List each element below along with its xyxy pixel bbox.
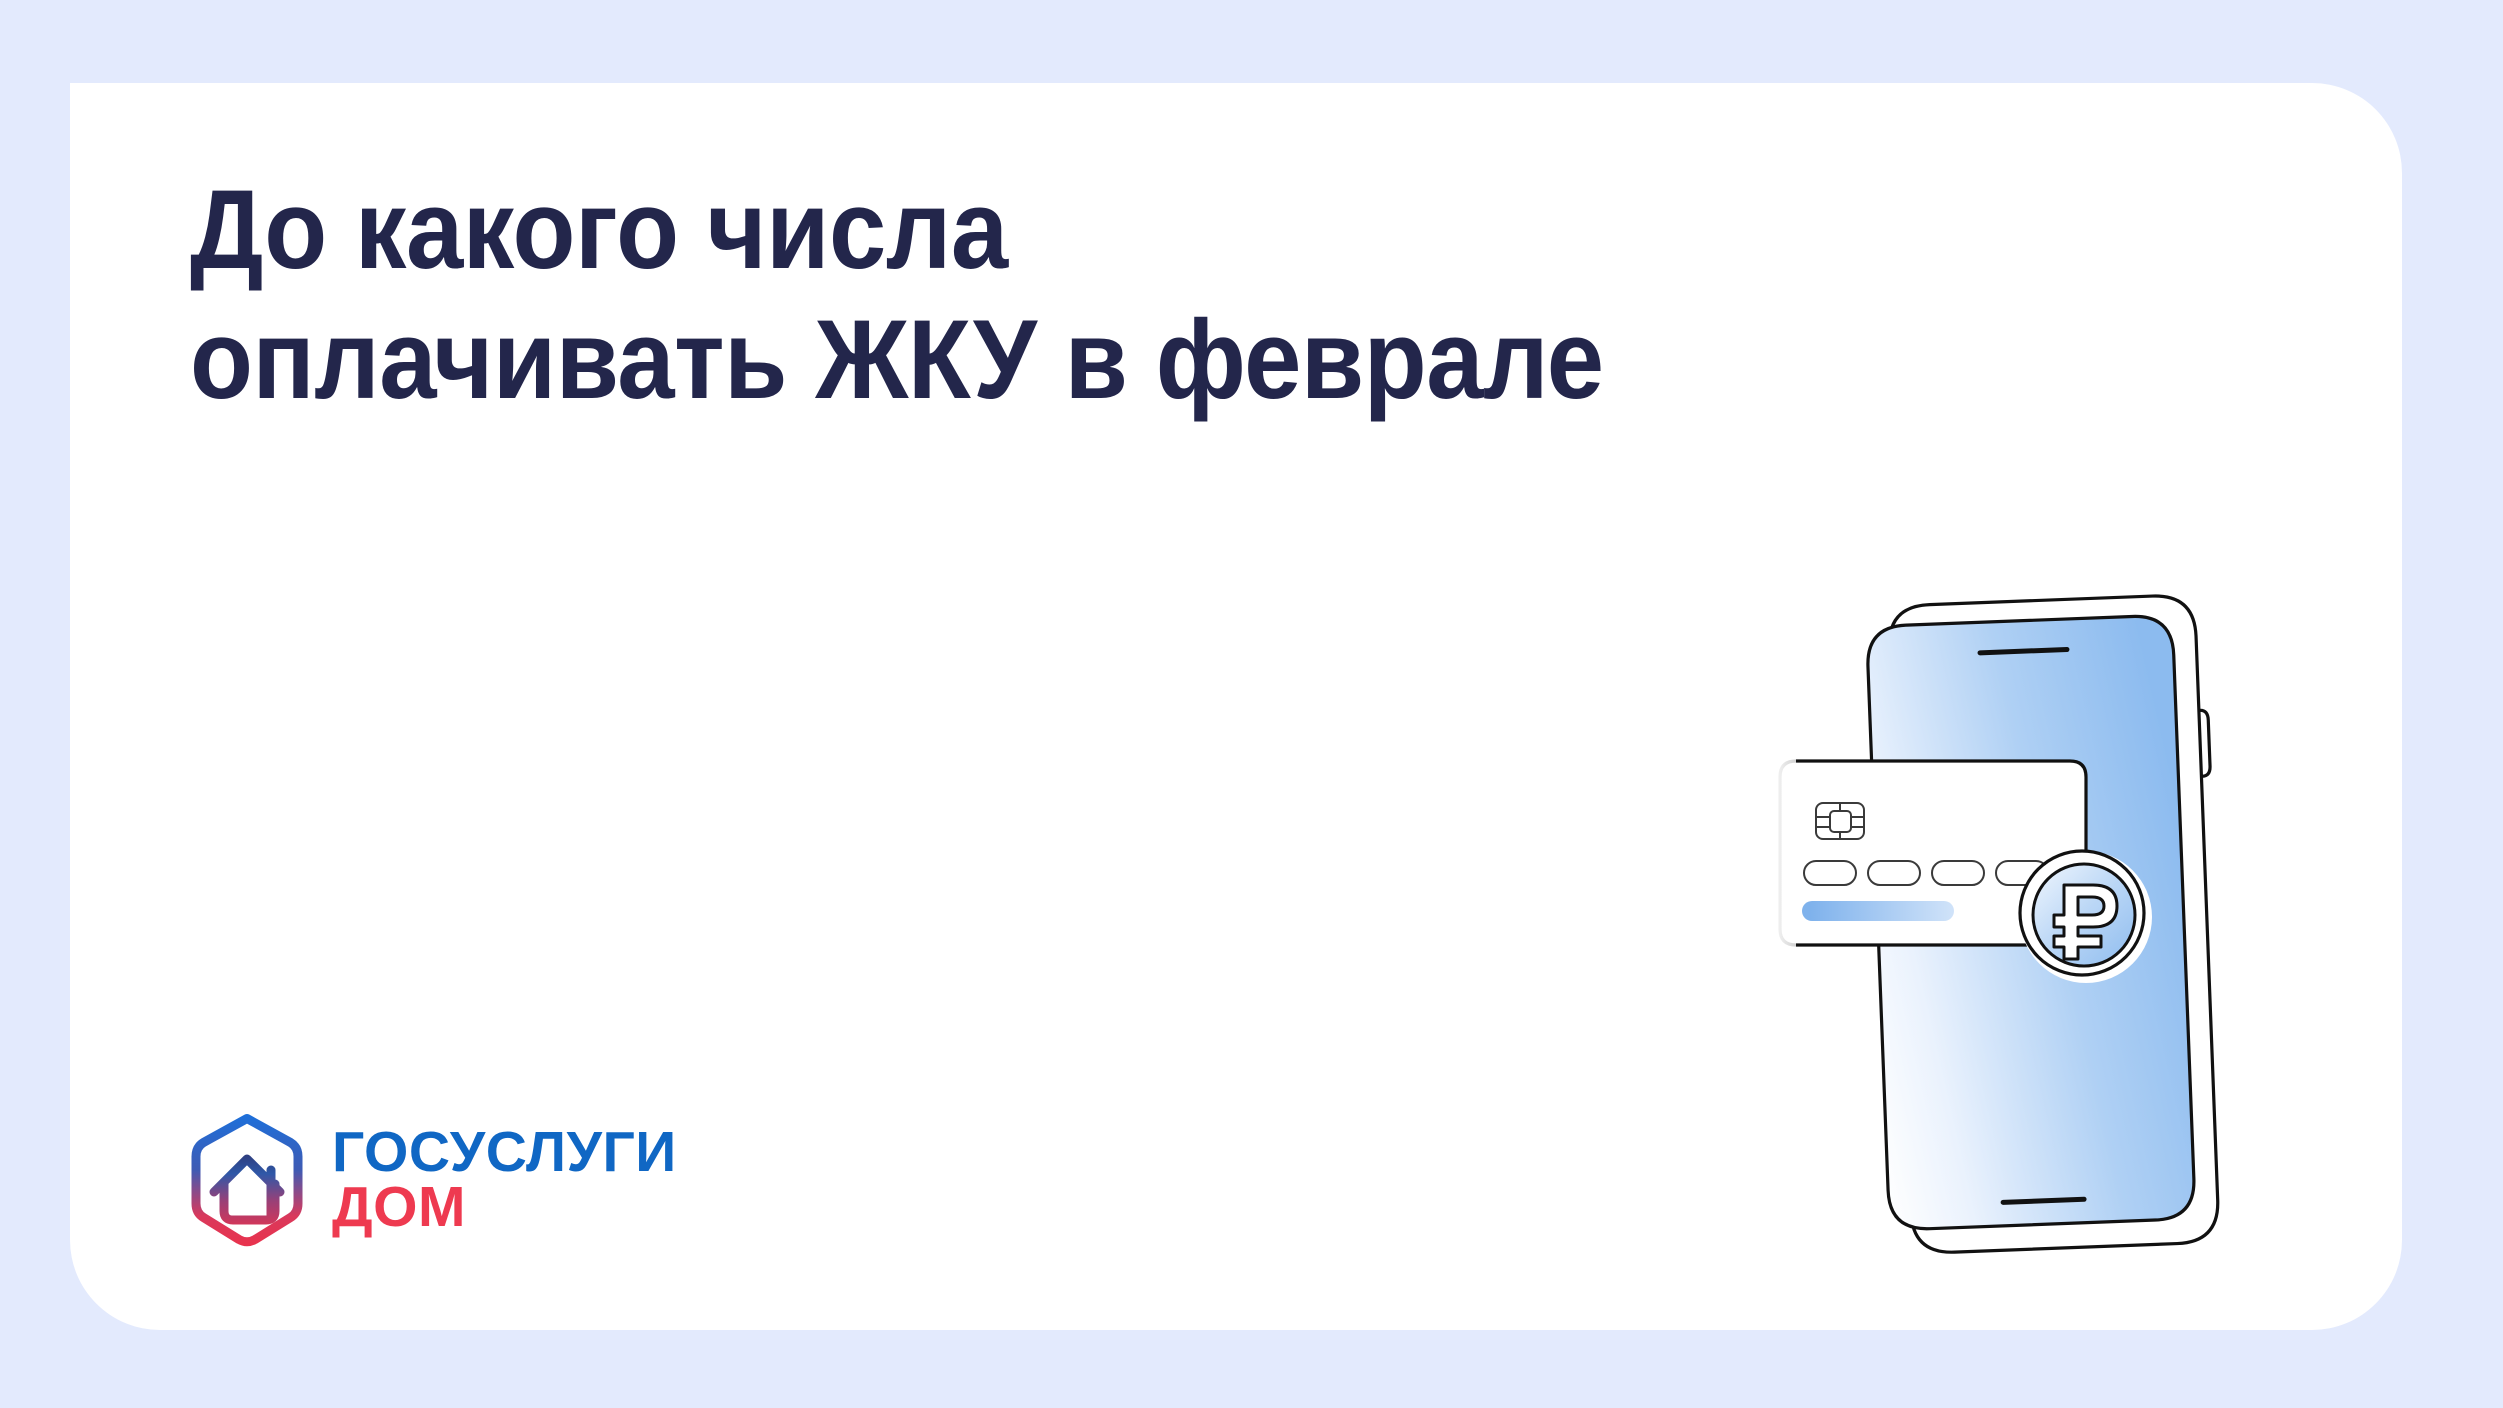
logo-wordmark: ГОСУСЛУГИ ДОМ (332, 1125, 677, 1236)
page-title: До какого числа оплачивать ЖКУ в феврале (190, 165, 1800, 425)
card-stripe (1802, 901, 1954, 921)
phone-card-coin-illustration (1770, 565, 2290, 1285)
gosuslugi-dom-logo: ГОСУСЛУГИ ДОМ (186, 1112, 677, 1248)
logo-word-dom: ДОМ (332, 1180, 677, 1235)
logo-word-gosuslugi: ГОСУСЛУГИ (332, 1125, 677, 1180)
ruble-coin (2020, 851, 2152, 983)
poster-root: До какого числа оплачивать ЖКУ в феврале (0, 0, 2503, 1408)
hexagon-house-icon (186, 1112, 308, 1248)
